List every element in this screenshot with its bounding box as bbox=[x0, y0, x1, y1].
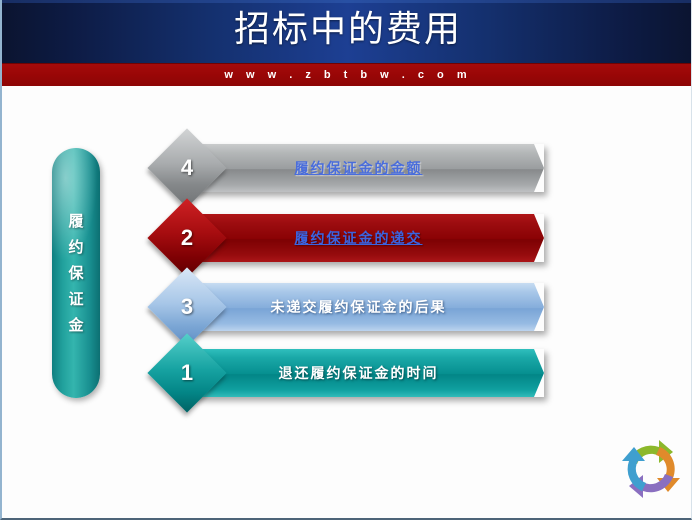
page-title: 招标中的费用 bbox=[2, 6, 692, 54]
row-bar-3[interactable]: 未递交履约保证金的后果 bbox=[187, 283, 544, 331]
side-label-char-0: 履 bbox=[68, 208, 83, 234]
row-label-3: 未递交履约保证金的后果 bbox=[187, 283, 544, 331]
row-label-2: 履约保证金的递交 bbox=[187, 214, 544, 262]
row-bar-1[interactable]: 退还履约保证金的时间 bbox=[187, 349, 544, 397]
slide-canvas: 招标中的费用 w w w . z b t b w . c o m 履 约 保 证… bbox=[0, 0, 692, 520]
side-label-text: 履 约 保 证 金 bbox=[52, 148, 100, 398]
row-number-4: 4 bbox=[159, 140, 215, 196]
website-band: w w w . z b t b w . c o m bbox=[2, 63, 692, 86]
side-label-pill: 履 约 保 证 金 bbox=[52, 148, 100, 398]
side-label-char-4: 金 bbox=[68, 312, 83, 338]
row-number-1: 1 bbox=[159, 345, 215, 401]
row-number-2: 2 bbox=[159, 210, 215, 266]
row-bar-2[interactable]: 履约保证金的递交 bbox=[187, 214, 544, 262]
cycle-arrows-icon bbox=[616, 436, 686, 504]
slide-header: 招标中的费用 bbox=[2, 0, 692, 63]
cycle-arrows-logo bbox=[616, 436, 686, 504]
row-label-1: 退还履约保证金的时间 bbox=[187, 349, 544, 397]
row-label-4: 履约保证金的金额 bbox=[187, 144, 544, 192]
side-label-char-3: 证 bbox=[68, 286, 83, 312]
side-label-char-1: 约 bbox=[68, 234, 83, 260]
row-number-3: 3 bbox=[159, 279, 215, 335]
side-label-char-2: 保 bbox=[68, 260, 83, 286]
row-bar-4[interactable]: 履约保证金的金额 bbox=[187, 144, 544, 192]
website-text: w w w . z b t b w . c o m bbox=[2, 64, 692, 86]
